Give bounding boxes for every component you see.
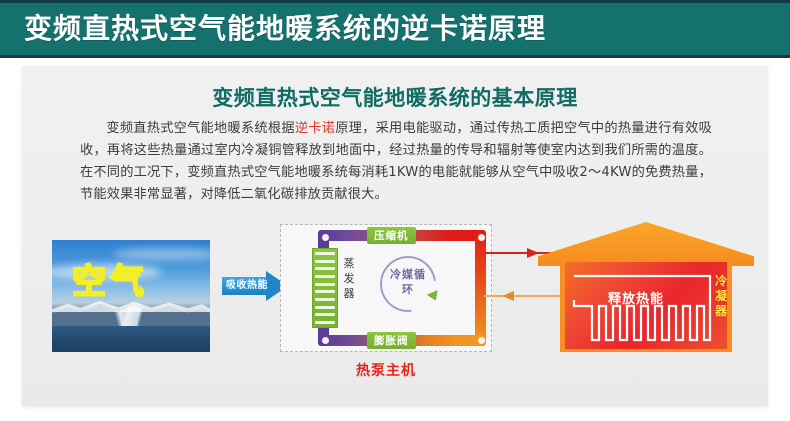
slide-root: 变频直热式空气能地暖系统的逆卡诺原理 变频直热式空气能地暖系统的基本原理 变频直…	[0, 0, 790, 421]
compressor-label: 压缩机	[367, 227, 416, 244]
pipe-corner-dot	[478, 337, 485, 344]
floor-heating-coil-icon	[570, 270, 722, 344]
header-banner: 变频直热式空气能地暖系统的逆卡诺原理	[0, 0, 790, 58]
evaporator-coil-icon	[312, 248, 338, 328]
house-illustration: 释放热能 冷凝器	[538, 222, 754, 362]
refrigerant-cycle-label: 冷媒循环	[386, 267, 430, 297]
heat-pump-unit-label: 热泵主机	[280, 360, 492, 380]
evaporator-label: 蒸发器	[342, 256, 356, 301]
air-photo-caption: 空气	[72, 254, 148, 303]
expansion-valve-label: 膨胀阀	[367, 332, 416, 349]
body-paragraph: 变频直热式空气能地暖系统根据逆卡诺原理，采用电能驱动，通过传热工质把空气中的热量…	[80, 118, 712, 206]
lake-shape	[52, 326, 210, 352]
absorb-heat-arrow-icon: 吸收热能	[222, 273, 288, 299]
pipe-corner-dot	[478, 234, 485, 241]
page-title: 变频直热式空气能地暖系统的逆卡诺原理	[24, 15, 546, 43]
section-subtitle: 变频直热式空气能地暖系统的基本原理	[22, 82, 768, 112]
release-heat-label: 释放热能	[560, 288, 712, 307]
content-panel: 变频直热式空气能地暖系统的基本原理 变频直热式空气能地暖系统根据逆卡诺原理，采用…	[22, 66, 768, 406]
pipe-right-hot	[475, 230, 486, 346]
return-arrow-icon	[502, 291, 514, 301]
system-diagram: 空气 吸收热能 蒸发器 压缩	[22, 218, 768, 406]
pipe-corner-dot	[322, 337, 329, 344]
paragraph-highlight-term: 逆卡诺	[295, 121, 335, 136]
refrigerant-cycle-icon: 冷媒循环	[380, 256, 444, 320]
absorb-heat-label: 吸收热能	[224, 279, 270, 293]
air-photo: 空气	[52, 240, 210, 352]
pipe-corner-dot	[322, 234, 329, 241]
paragraph-part-1: 变频直热式空气能地暖系统根据	[106, 121, 294, 136]
house-roof	[538, 222, 754, 266]
condenser-label: 冷凝器	[714, 274, 728, 319]
